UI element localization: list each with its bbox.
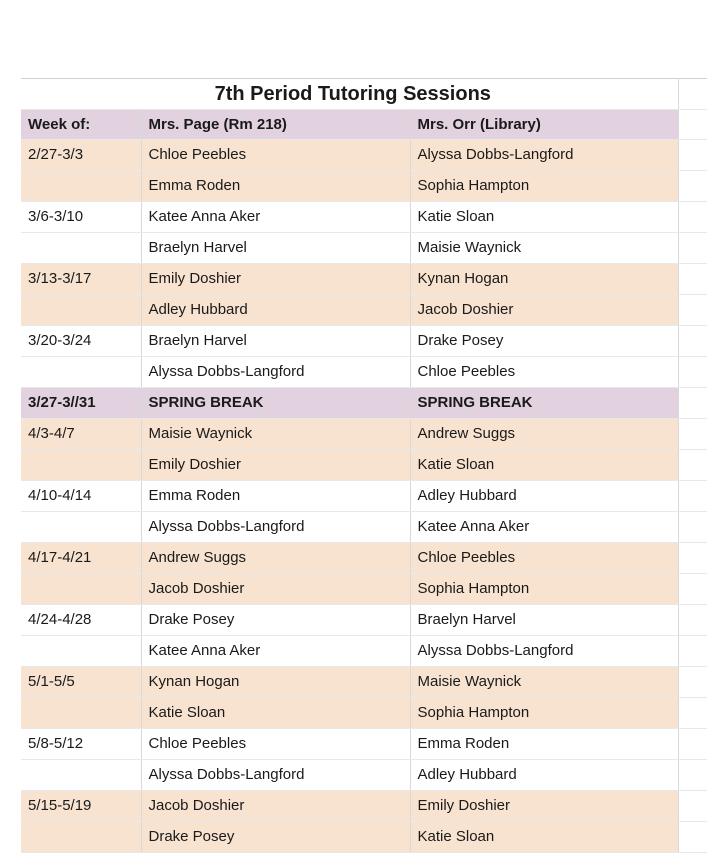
table-body: 7th Period Tutoring Sessions Week of: Mr… [21, 79, 707, 853]
cell-mrs-page-student[interactable]: Emma Roden [141, 171, 410, 202]
table-row: Alyssa Dobbs-LangfordKatee Anna Aker [21, 512, 707, 543]
cell-mrs-orr-student[interactable]: Katie Sloan [410, 202, 678, 233]
empty-cell[interactable] [678, 760, 707, 791]
table-row: 5/1-5/5Kynan HoganMaisie Waynick [21, 667, 707, 698]
cell-mrs-orr-student[interactable]: Emily Doshier [410, 791, 678, 822]
empty-cell[interactable] [678, 574, 707, 605]
cell-mrs-page-student[interactable]: Jacob Doshier [141, 574, 410, 605]
cell-mrs-page-student[interactable]: Chloe Peebles [141, 140, 410, 171]
cell-mrs-page-student[interactable]: Braelyn Harvel [141, 233, 410, 264]
cell-mrs-page-student[interactable]: Emily Doshier [141, 450, 410, 481]
table-row: 4/3-4/7Maisie WaynickAndrew Suggs [21, 419, 707, 450]
cell-mrs-page-student[interactable]: Maisie Waynick [141, 419, 410, 450]
cell-mrs-orr-student[interactable]: Kynan Hogan [410, 264, 678, 295]
cell-mrs-page-student[interactable]: Emma Roden [141, 481, 410, 512]
empty-cell[interactable] [678, 481, 707, 512]
tutoring-schedule-table: 7th Period Tutoring Sessions Week of: Mr… [21, 78, 707, 853]
empty-cell[interactable] [678, 357, 707, 388]
cell-week-of[interactable]: 4/24-4/28 [21, 605, 141, 636]
table-row: 5/8-5/12Chloe PeeblesEmma Roden [21, 729, 707, 760]
cell-week-of[interactable]: 5/1-5/5 [21, 667, 141, 698]
cell-mrs-orr-student[interactable]: Sophia Hampton [410, 698, 678, 729]
cell-week-of-continuation[interactable] [21, 233, 141, 264]
cell-week-of-continuation[interactable] [21, 295, 141, 326]
empty-cell[interactable] [678, 667, 707, 698]
table-row: 4/10-4/14Emma RodenAdley Hubbard [21, 481, 707, 512]
cell-mrs-page-student[interactable]: Kynan Hogan [141, 667, 410, 698]
table-row: Jacob DoshierSophia Hampton [21, 574, 707, 605]
cell-week-of-continuation[interactable] [21, 822, 141, 853]
cell-mrs-orr-student[interactable]: Katee Anna Aker [410, 512, 678, 543]
table-row: Alyssa Dobbs-LangfordAdley Hubbard [21, 760, 707, 791]
table-row: 2/27-3/3Chloe PeeblesAlyssa Dobbs-Langfo… [21, 140, 707, 171]
table-row: Katie SloanSophia Hampton [21, 698, 707, 729]
empty-cell[interactable] [678, 822, 707, 853]
empty-cell[interactable] [678, 729, 707, 760]
table-row: 3/27-3//31SPRING BREAKSPRING BREAK [21, 388, 707, 419]
cell-mrs-orr-student[interactable]: Chloe Peebles [410, 357, 678, 388]
table-row: 4/17-4/21Andrew SuggsChloe Peebles [21, 543, 707, 574]
empty-cell[interactable] [678, 450, 707, 481]
cell-mrs-page-student[interactable]: SPRING BREAK [141, 388, 410, 419]
cell-week-of[interactable]: 3/20-3/24 [21, 326, 141, 357]
table-row: Katee Anna AkerAlyssa Dobbs-Langford [21, 636, 707, 667]
cell-mrs-orr-student[interactable]: Alyssa Dobbs-Langford [410, 636, 678, 667]
cell-week-of[interactable]: 3/13-3/17 [21, 264, 141, 295]
cell-week-of[interactable]: 4/3-4/7 [21, 419, 141, 450]
table-row: 5/15-5/19Jacob DoshierEmily Doshier [21, 791, 707, 822]
cell-mrs-page-student[interactable]: Alyssa Dobbs-Langford [141, 357, 410, 388]
empty-cell[interactable] [678, 202, 707, 233]
cell-mrs-page-student[interactable]: Drake Posey [141, 822, 410, 853]
cell-mrs-orr-student[interactable]: Braelyn Harvel [410, 605, 678, 636]
title-row: 7th Period Tutoring Sessions [21, 79, 707, 110]
empty-cell[interactable] [678, 264, 707, 295]
empty-cell[interactable] [678, 605, 707, 636]
cell-week-of-continuation[interactable] [21, 760, 141, 791]
cell-mrs-orr-student[interactable]: Katie Sloan [410, 450, 678, 481]
cell-mrs-page-student[interactable]: Katie Sloan [141, 698, 410, 729]
cell-mrs-page-student[interactable]: Alyssa Dobbs-Langford [141, 512, 410, 543]
empty-cell[interactable] [678, 791, 707, 822]
empty-cell[interactable] [678, 512, 707, 543]
cell-week-of-continuation[interactable] [21, 698, 141, 729]
cell-week-of[interactable]: 3/6-3/10 [21, 202, 141, 233]
table-row: 3/6-3/10Katee Anna AkerKatie Sloan [21, 202, 707, 233]
empty-cell[interactable] [678, 140, 707, 171]
table-row: 3/13-3/17Emily DoshierKynan Hogan [21, 264, 707, 295]
cell-week-of[interactable]: 5/15-5/19 [21, 791, 141, 822]
cell-mrs-page-student[interactable]: Andrew Suggs [141, 543, 410, 574]
cell-week-of[interactable]: 3/27-3//31 [21, 388, 141, 419]
cell-mrs-page-student[interactable]: Jacob Doshier [141, 791, 410, 822]
empty-cell[interactable] [678, 233, 707, 264]
table-row: Emily DoshierKatie Sloan [21, 450, 707, 481]
cell-week-of-continuation[interactable] [21, 450, 141, 481]
cell-week-of[interactable]: 2/27-3/3 [21, 140, 141, 171]
cell-mrs-page-student[interactable]: Alyssa Dobbs-Langford [141, 760, 410, 791]
header-mrs-page: Mrs. Page (Rm 218) [141, 110, 410, 140]
cell-mrs-orr-student[interactable]: Alyssa Dobbs-Langford [410, 140, 678, 171]
empty-cell[interactable] [678, 543, 707, 574]
header-week-of: Week of: [21, 110, 141, 140]
spreadsheet-canvas: 7th Period Tutoring Sessions Week of: Mr… [0, 0, 707, 861]
cell-week-of-continuation[interactable] [21, 512, 141, 543]
cell-mrs-orr-student[interactable]: SPRING BREAK [410, 388, 678, 419]
empty-cell[interactable] [678, 388, 707, 419]
page-title: 7th Period Tutoring Sessions [21, 79, 678, 110]
cell-week-of-continuation[interactable] [21, 574, 141, 605]
cell-mrs-orr-student[interactable]: Adley Hubbard [410, 481, 678, 512]
cell-week-of[interactable]: 4/10-4/14 [21, 481, 141, 512]
cell-mrs-orr-student[interactable]: Maisie Waynick [410, 667, 678, 698]
cell-mrs-page-student[interactable]: Katee Anna Aker [141, 636, 410, 667]
table-row: 3/20-3/24Braelyn HarvelDrake Posey [21, 326, 707, 357]
cell-mrs-page-student[interactable]: Braelyn Harvel [141, 326, 410, 357]
cell-mrs-orr-student[interactable]: Emma Roden [410, 729, 678, 760]
cell-mrs-orr-student[interactable]: Adley Hubbard [410, 760, 678, 791]
cell-mrs-orr-student[interactable]: Andrew Suggs [410, 419, 678, 450]
table-row: Alyssa Dobbs-LangfordChloe Peebles [21, 357, 707, 388]
cell-mrs-orr-student[interactable]: Chloe Peebles [410, 543, 678, 574]
table-row: Emma RodenSophia Hampton [21, 171, 707, 202]
empty-cell[interactable] [678, 110, 707, 140]
empty-cell[interactable] [678, 326, 707, 357]
table-row: Adley HubbardJacob Doshier [21, 295, 707, 326]
cell-mrs-page-student[interactable]: Drake Posey [141, 605, 410, 636]
cell-mrs-page-student[interactable]: Chloe Peebles [141, 729, 410, 760]
cell-mrs-page-student[interactable]: Katee Anna Aker [141, 202, 410, 233]
empty-cell[interactable] [678, 79, 707, 110]
cell-mrs-orr-student[interactable]: Sophia Hampton [410, 171, 678, 202]
empty-cell[interactable] [678, 636, 707, 667]
cell-week-of-continuation[interactable] [21, 636, 141, 667]
cell-mrs-orr-student[interactable]: Jacob Doshier [410, 295, 678, 326]
empty-cell[interactable] [678, 171, 707, 202]
table-row: 4/24-4/28Drake PoseyBraelyn Harvel [21, 605, 707, 636]
cell-mrs-orr-student[interactable]: Katie Sloan [410, 822, 678, 853]
empty-cell[interactable] [678, 419, 707, 450]
header-mrs-orr: Mrs. Orr (Library) [410, 110, 678, 140]
cell-mrs-orr-student[interactable]: Sophia Hampton [410, 574, 678, 605]
cell-mrs-orr-student[interactable]: Drake Posey [410, 326, 678, 357]
table-row: Braelyn HarvelMaisie Waynick [21, 233, 707, 264]
empty-cell[interactable] [678, 295, 707, 326]
cell-mrs-page-student[interactable]: Adley Hubbard [141, 295, 410, 326]
empty-cell[interactable] [678, 698, 707, 729]
cell-week-of-continuation[interactable] [21, 357, 141, 388]
cell-week-of-continuation[interactable] [21, 171, 141, 202]
cell-mrs-orr-student[interactable]: Maisie Waynick [410, 233, 678, 264]
table-row: Drake PoseyKatie Sloan [21, 822, 707, 853]
cell-mrs-page-student[interactable]: Emily Doshier [141, 264, 410, 295]
cell-week-of[interactable]: 4/17-4/21 [21, 543, 141, 574]
cell-week-of[interactable]: 5/8-5/12 [21, 729, 141, 760]
column-header-row: Week of: Mrs. Page (Rm 218) Mrs. Orr (Li… [21, 110, 707, 140]
